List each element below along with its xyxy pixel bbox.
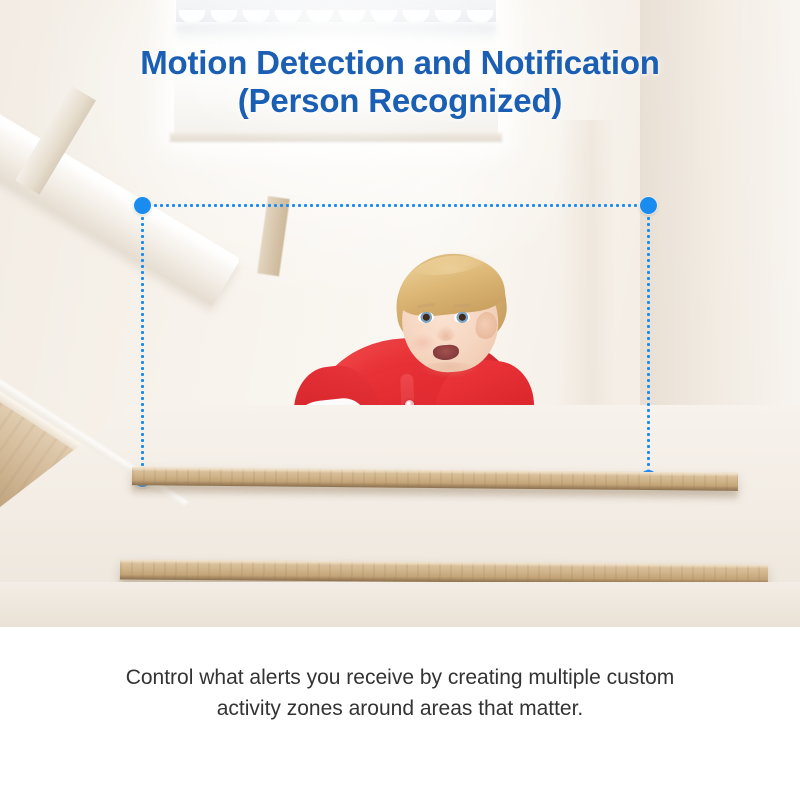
title-line-2: (Person Recognized) (0, 82, 800, 120)
activity-zone-overlay[interactable] (142, 205, 648, 478)
zone-edge-right[interactable] (647, 205, 650, 478)
zone-handle-top-left[interactable] (134, 197, 151, 214)
page-title: Motion Detection and Notification (Perso… (0, 44, 800, 119)
title-line-1: Motion Detection and Notification (0, 44, 800, 82)
stair-step-face (0, 582, 800, 627)
zone-edge-top[interactable] (142, 204, 648, 207)
caption-area: Control what alerts you receive by creat… (0, 627, 800, 800)
zone-handle-top-right[interactable] (640, 197, 657, 214)
scene-photo: Motion Detection and Notification (Perso… (0, 0, 800, 627)
zone-edge-left[interactable] (141, 205, 144, 478)
caption-text: Control what alerts you receive by creat… (120, 663, 680, 724)
feature-card: Motion Detection and Notification (Perso… (0, 0, 800, 800)
